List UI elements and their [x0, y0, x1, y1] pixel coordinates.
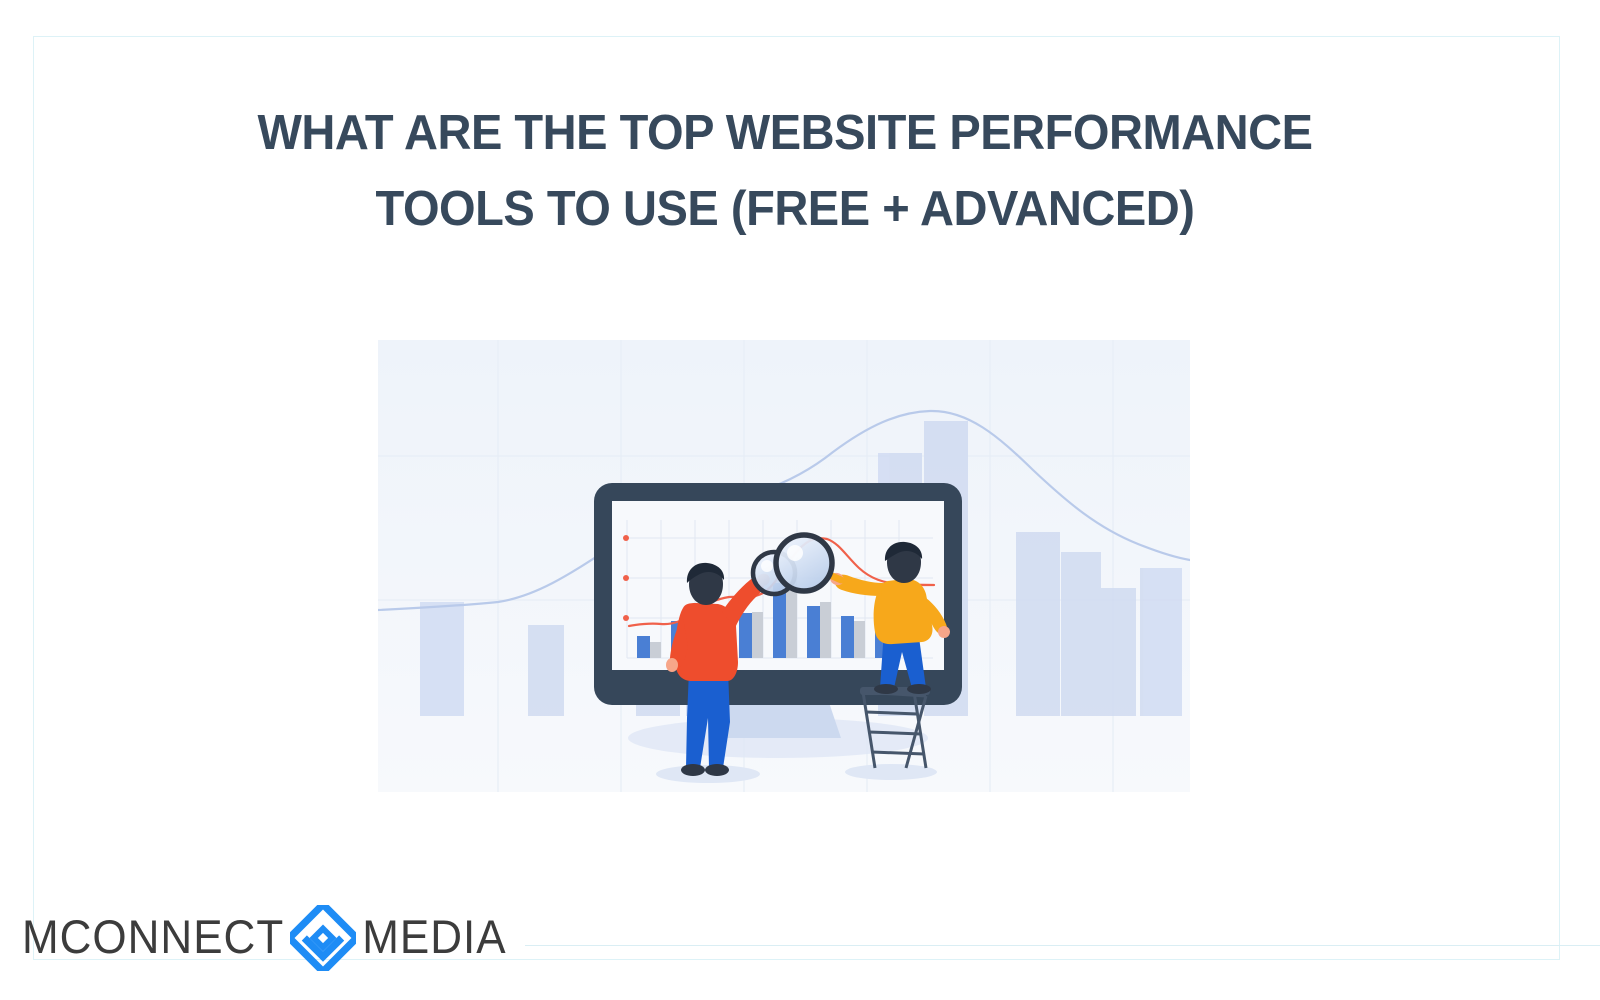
- person-right-shirt: [874, 579, 933, 644]
- square-spiral-diamond-icon: [290, 905, 356, 971]
- page-footer: MCONNECT MEDIA: [0, 890, 1600, 1000]
- ladder-shadow: [845, 764, 937, 780]
- person-left-hand-down: [666, 658, 678, 672]
- brand-logo[interactable]: MCONNECT MEDIA: [22, 902, 507, 974]
- footer-divider-rule: [525, 945, 1600, 946]
- page-title: WHAT ARE THE TOP WEBSITE PERFORMANCE TOO…: [150, 95, 1420, 247]
- person-left-shoe-right: [705, 764, 729, 776]
- page-title-line-2: TOOLS TO USE (FREE + ADVANCED): [175, 171, 1394, 247]
- person-right-shoe-right: [907, 684, 931, 694]
- page-title-line-1: WHAT ARE THE TOP WEBSITE PERFORMANCE: [175, 95, 1394, 171]
- person-left-shoe-left: [681, 764, 705, 776]
- hero-illustration: [378, 340, 1190, 792]
- person-right-hand-back: [938, 626, 950, 638]
- person-right-shoe-left: [874, 684, 898, 694]
- brand-logo-word-right: MEDIA: [362, 914, 506, 962]
- brand-logo-word-left: MCONNECT: [22, 914, 284, 962]
